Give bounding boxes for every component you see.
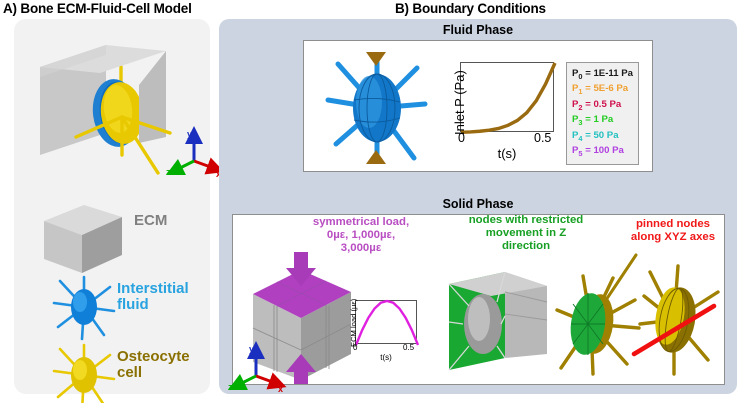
pressure-legend-item-3: P3 = 1 Pa <box>572 113 633 128</box>
annotation-symmetrical-load: symmetrical load, 0µε, 1,000µε, 3,000µε <box>296 216 426 254</box>
pressure-legend-item-5: P5 = 100 Pa <box>572 144 633 159</box>
legend-icon-osteocyte-cell <box>48 339 120 403</box>
panel-a-title: A) Bone ECM-Fluid-Cell Model <box>3 1 192 16</box>
ecm-load-xlabel: t(s) <box>355 353 417 362</box>
legend-icon-ecm-cube <box>36 201 128 277</box>
legend-label-ecm: ECM <box>134 212 167 229</box>
annotation-pinned-nodes: pinned nodes along XYZ axes <box>613 218 733 244</box>
ecm-load-plot-area <box>355 300 417 344</box>
legend-label-interstitial-fluid: Interstitial fluid <box>117 281 205 313</box>
ecm-load-xtick-1: 0.5 <box>403 343 414 352</box>
pressure-legend: P0 = 1E-11 PaP1 = 5E-6 PaP2 = 0.5 PaP3 =… <box>566 62 639 165</box>
inlet-pressure-xtick-0: 0 <box>458 131 465 145</box>
ecm-load-curve <box>356 301 418 345</box>
inlet-pressure-xtick-1: 0.5 <box>534 131 551 145</box>
solid-phase-title: Solid Phase <box>219 197 737 211</box>
pressure-legend-item-1: P1 = 5E-6 Pa <box>572 82 633 97</box>
fluid-phase-title: Fluid Phase <box>219 23 737 37</box>
pressure-legend-item-2: P2 = 0.5 Pa <box>572 98 633 113</box>
svg-text:z: z <box>166 167 171 177</box>
legend-label-osteocyte-cell: Osteocyte cell <box>117 349 209 381</box>
inlet-pressure-chart: Inlet P (Pa) t(s) 0 0.5 <box>432 56 562 161</box>
pressure-legend-item-0: P0 = 1E-11 Pa <box>572 67 633 82</box>
restricted-movement-block <box>443 262 563 380</box>
fluid-cell-diagram <box>322 46 432 171</box>
svg-text:y: y <box>249 344 254 354</box>
inlet-pressure-curve <box>461 63 555 133</box>
inlet-pressure-ylabel: Inlet P (Pa) <box>452 70 467 135</box>
inlet-pressure-plot-area <box>460 62 554 132</box>
legend-icon-interstitial-fluid <box>48 271 120 343</box>
svg-text:z: z <box>228 382 233 392</box>
axis-triad-panel-a: y x z <box>166 123 224 179</box>
ecm-load-ylabel: ECM load (µε) <box>349 299 358 347</box>
svg-text:y: y <box>187 129 192 139</box>
panel-b-title: B) Boundary Conditions <box>395 1 546 16</box>
inlet-pressure-xlabel: t(s) <box>460 146 554 161</box>
flow-arrow-top <box>366 52 386 66</box>
annotation-restricted-nodes: nodes with restricted movement in Z dire… <box>456 214 596 252</box>
pressure-legend-item-4: P4 = 50 Pa <box>572 129 633 144</box>
ecm-load-chart: ECM load (µε) t(s) 0 0.5 <box>333 297 425 369</box>
figure-root: A) Bone ECM-Fluid-Cell Model B) Boundary… <box>0 0 740 403</box>
axis-triad-solid-phase: y x z <box>228 342 286 394</box>
panel-a-bone-model: y x z <box>14 19 210 394</box>
flow-arrow-bottom <box>366 150 386 164</box>
svg-text:x: x <box>278 384 283 394</box>
pinned-nodes-cell <box>622 258 726 382</box>
ecm-load-xtick-0: 0 <box>353 343 357 352</box>
